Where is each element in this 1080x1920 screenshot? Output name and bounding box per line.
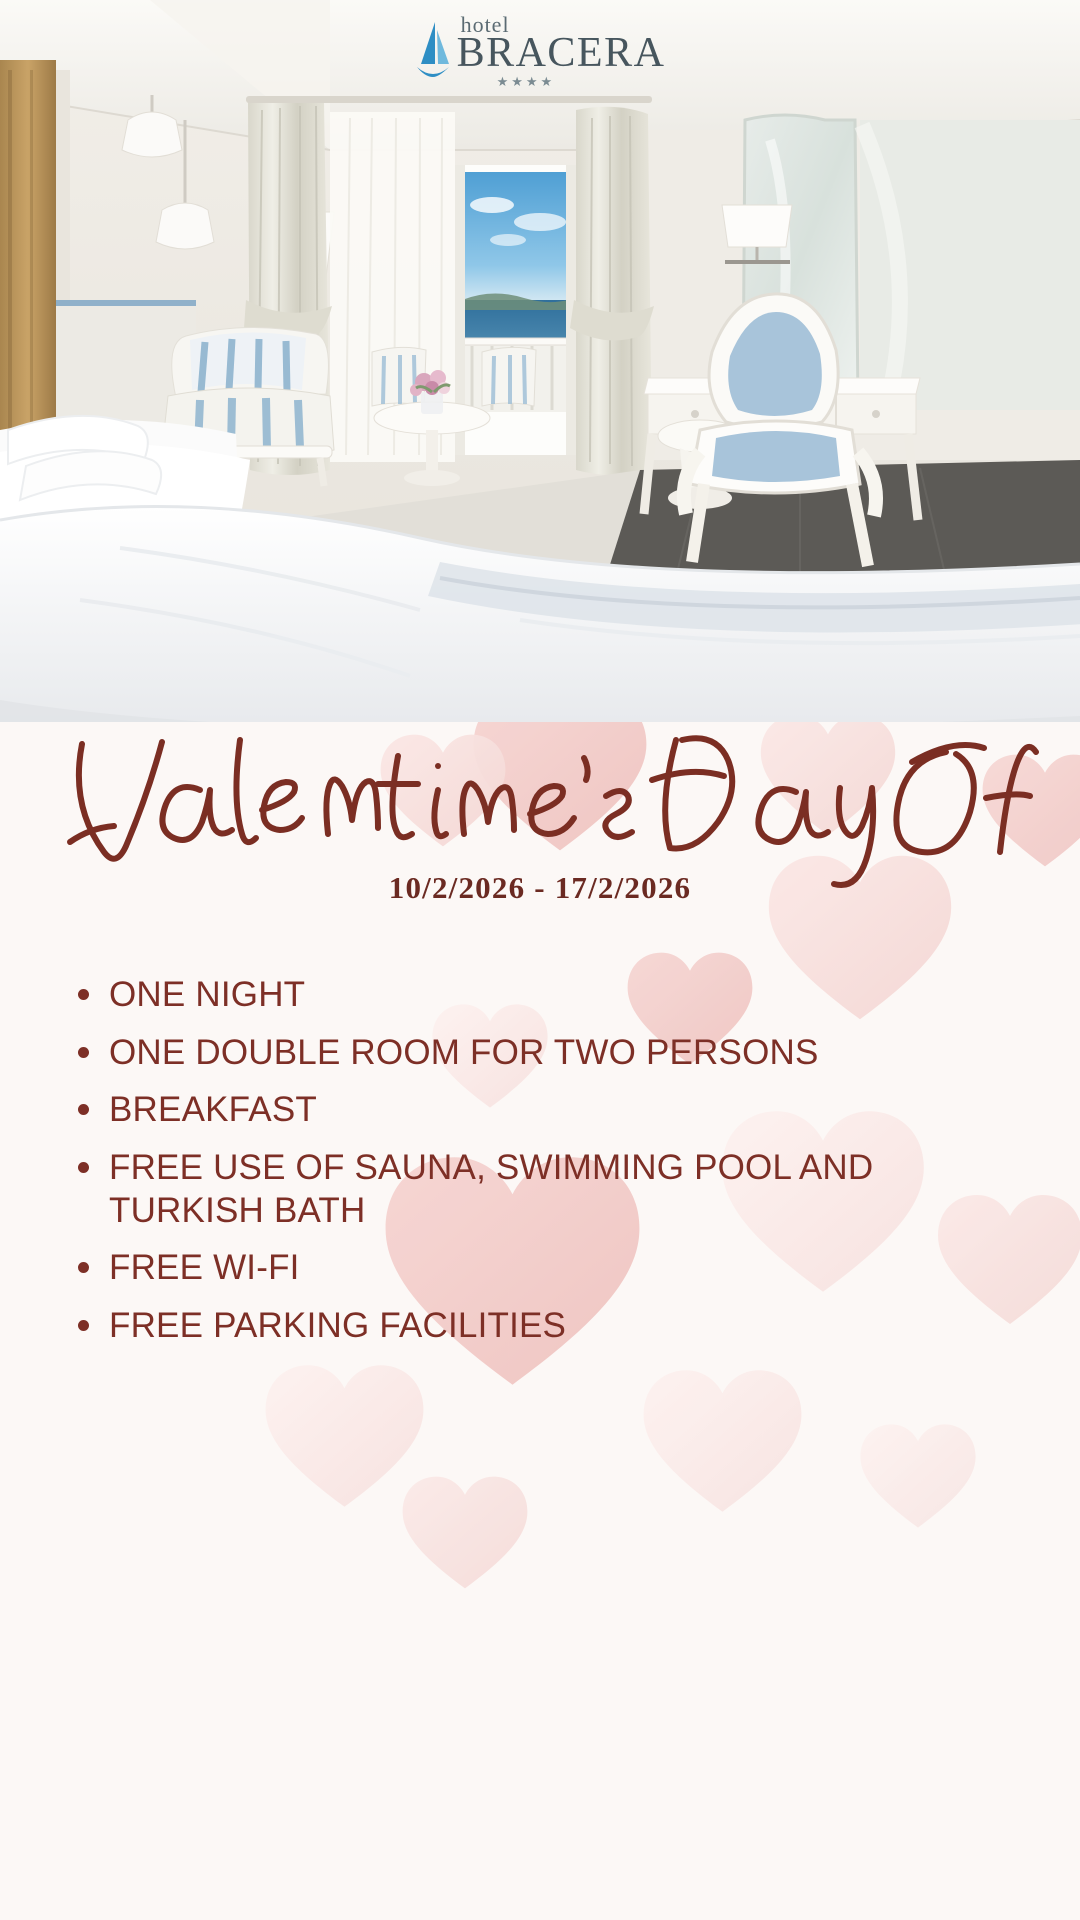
offer-dates: 10/2/2026 - 17/2/2026	[0, 870, 1080, 906]
bullet-dot-icon	[78, 1162, 89, 1173]
logo-brand-word: BRACERA	[457, 32, 666, 74]
list-item: FREE PARKING FACILITIES	[78, 1305, 978, 1348]
offer-section: 10/2/2026 - 17/2/2026 ONE NIGHT ONE DOUB…	[0, 722, 1080, 1920]
bullet-dot-icon	[78, 1047, 89, 1058]
list-item: FREE USE OF SAUNA, SWIMMING POOL AND TUR…	[78, 1147, 978, 1232]
list-item: FREE WI-FI	[78, 1247, 978, 1290]
brand-logo: hotel BRACERA ★★★★	[0, 14, 1080, 88]
list-item: ONE NIGHT	[78, 974, 978, 1017]
bullet-dot-icon	[78, 989, 89, 1000]
offer-title	[0, 722, 1080, 892]
room-illustration	[0, 0, 1080, 722]
list-item: BREAKFAST	[78, 1089, 978, 1132]
bullet-dot-icon	[78, 1320, 89, 1331]
list-item-label: ONE DOUBLE ROOM FOR TWO PERSONS	[109, 1032, 819, 1075]
bullet-dot-icon	[78, 1104, 89, 1115]
poster: hotel BRACERA ★★★★	[0, 0, 1080, 1920]
hotel-room-photo: hotel BRACERA ★★★★	[0, 0, 1080, 722]
sailboat-icon	[415, 20, 451, 82]
logo-stars: ★★★★	[497, 75, 556, 88]
list-item-label: FREE WI-FI	[109, 1247, 300, 1290]
offer-items-list: ONE NIGHT ONE DOUBLE ROOM FOR TWO PERSON…	[78, 974, 978, 1363]
list-item-label: FREE PARKING FACILITIES	[109, 1305, 566, 1348]
list-item-label: BREAKFAST	[109, 1089, 317, 1132]
list-item-label: FREE USE OF SAUNA, SWIMMING POOL AND TUR…	[109, 1147, 964, 1232]
list-item-label: ONE NIGHT	[109, 974, 305, 1017]
list-item: ONE DOUBLE ROOM FOR TWO PERSONS	[78, 1032, 978, 1075]
offer-title-script	[40, 722, 1040, 892]
bullet-dot-icon	[78, 1262, 89, 1273]
